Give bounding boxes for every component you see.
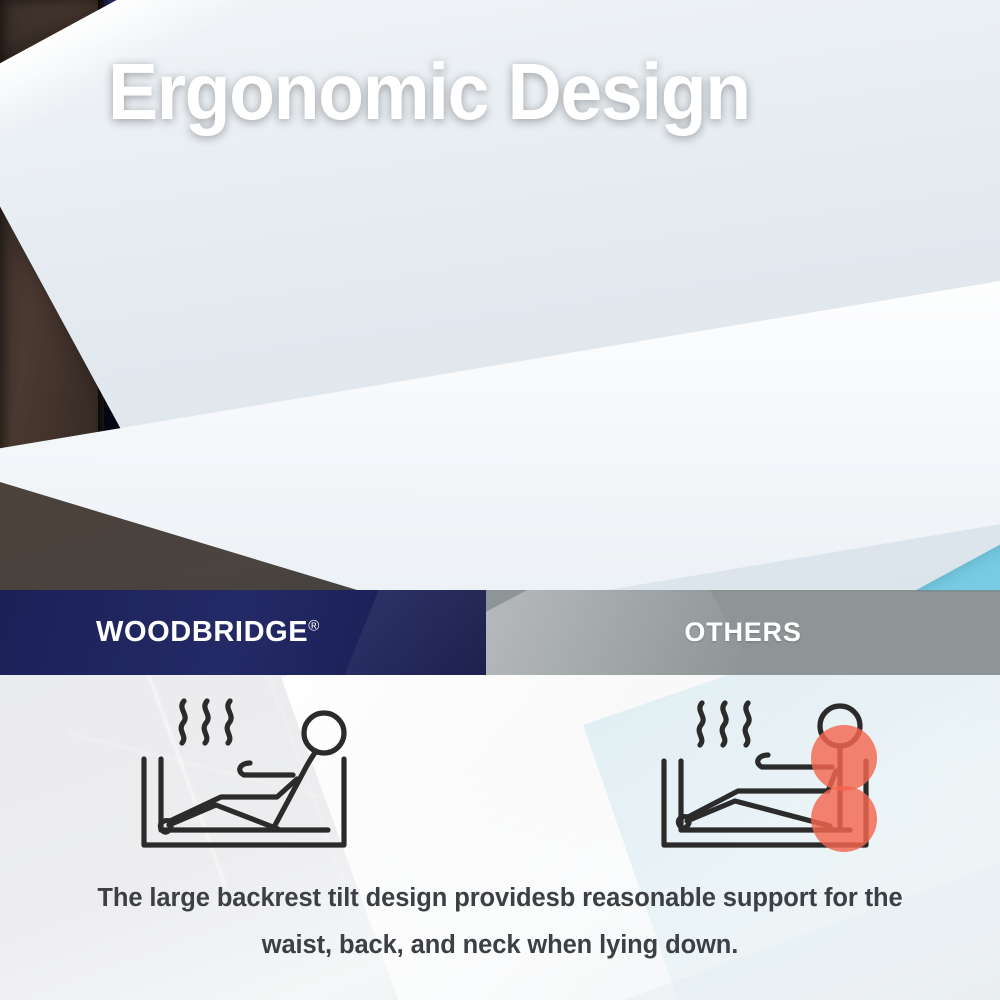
pressure-point-upper xyxy=(811,725,877,791)
comparison-caption: The large backrest tilt design providesb… xyxy=(60,875,940,969)
upright-bathtub-bad-icon xyxy=(650,693,895,858)
brand-comparison-bar: WOODBRIDGE® OTHERS xyxy=(0,590,1000,675)
brand-label: WOODBRIDGE® xyxy=(96,616,319,649)
others-label: OTHERS xyxy=(684,617,801,648)
brand-panel-woodbridge: WOODBRIDGE® xyxy=(0,590,486,675)
pressure-point-lower xyxy=(811,786,877,852)
caption-line-2: waist, back, and neck when lying down. xyxy=(60,922,940,969)
product-photo: Ergonomic Design xyxy=(0,0,1000,592)
page-title: Ergonomic Design xyxy=(108,52,750,132)
brand-name-text: WOODBRIDGE xyxy=(96,616,308,648)
caption-line-1: The large backrest tilt design providesb… xyxy=(60,875,940,922)
comparison-panel: The large backrest tilt design providesb… xyxy=(0,675,1000,1000)
registered-trademark-icon: ® xyxy=(308,617,319,634)
ergonomic-design-poster: Ergonomic Design WOODBRIDGE® OTHERS xyxy=(0,0,1000,1000)
comparison-icons xyxy=(0,675,1000,860)
reclining-bathtub-good-icon xyxy=(128,693,373,858)
brand-panel-others: OTHERS xyxy=(486,590,1000,675)
